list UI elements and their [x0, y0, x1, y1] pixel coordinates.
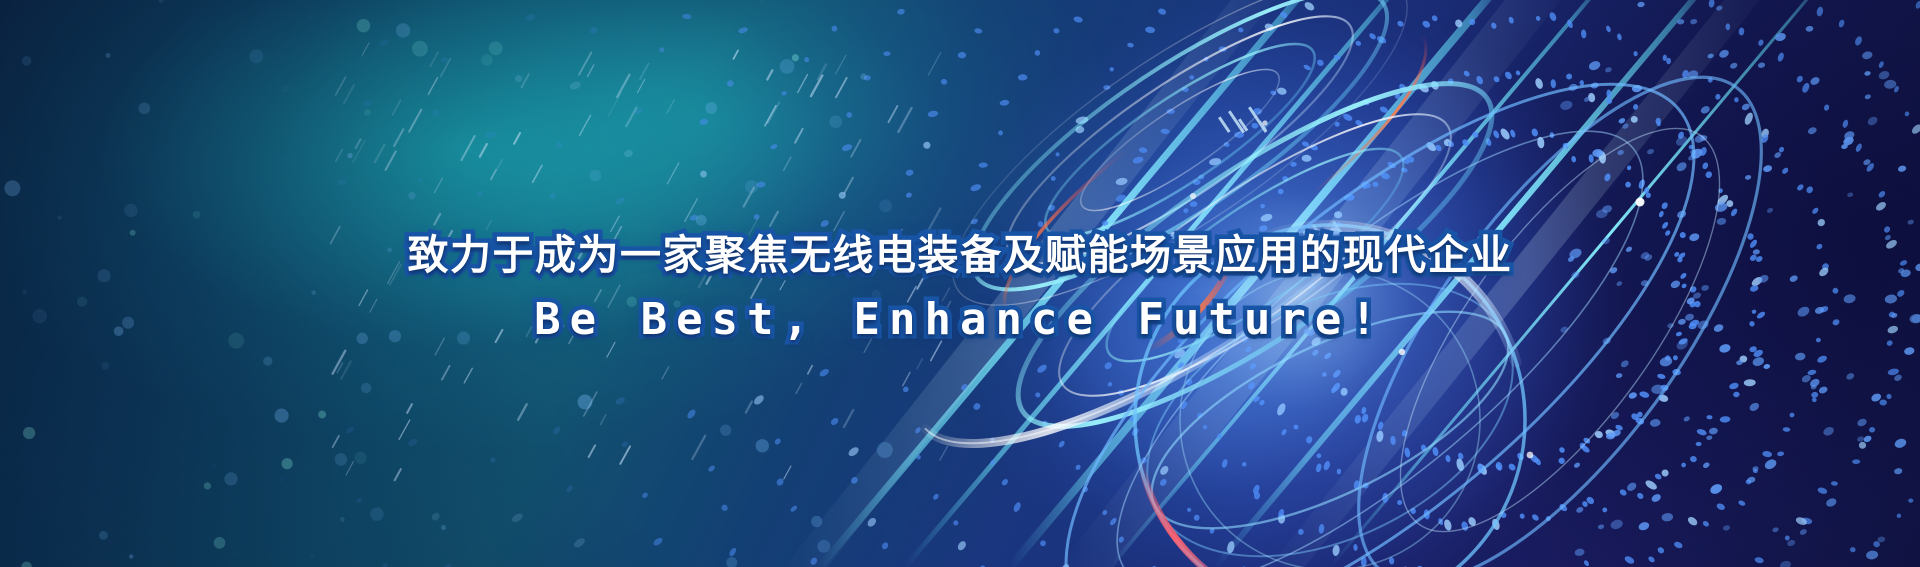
background-vignette: [0, 0, 1920, 567]
background-right-shadow: [0, 0, 1920, 567]
background-core-glow: [0, 0, 1920, 567]
background-teal-glow: [0, 0, 1920, 567]
headline-english: Be Best, Enhance Future!: [0, 294, 1920, 345]
diagonal-beam-icon: [0, 0, 1920, 567]
particle-dots-icon: [0, 0, 1920, 567]
headline-chinese: 致力于成为一家聚焦无线电装备及赋能场景应用的现代企业: [0, 232, 1920, 280]
headline-block: 致力于成为一家聚焦无线电装备及赋能场景应用的现代企业 Be Best, Enha…: [0, 232, 1920, 345]
hero-banner: 致力于成为一家聚焦无线电装备及赋能场景应用的现代企业 Be Best, Enha…: [0, 0, 1920, 567]
background-base-gradient: [0, 0, 1920, 567]
tech-globe-icon: [0, 0, 1920, 567]
